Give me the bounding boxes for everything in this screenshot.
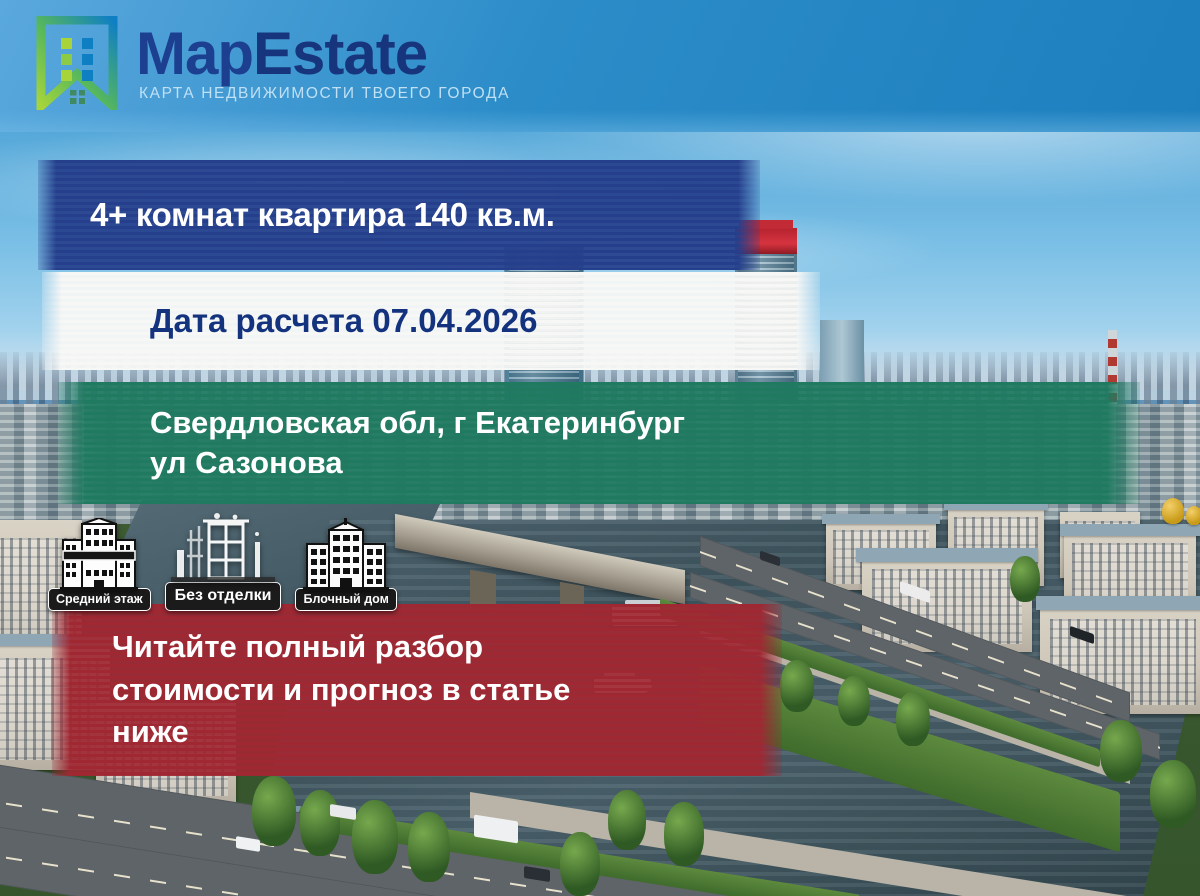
building-roof xyxy=(822,514,940,524)
address-street-line: ул Сазонова xyxy=(58,443,1140,483)
rooms-banner-text: 4+ комнат квартира 140 кв.м. xyxy=(38,196,760,234)
tree xyxy=(664,802,704,866)
feature-no-finishing-label: Без отделки xyxy=(165,582,282,611)
tree xyxy=(838,676,870,726)
cta-banner[interactable]: Читайте полный разбор стоимости и прогно… xyxy=(52,604,782,776)
feature-block-house[interactable]: Блочный дом xyxy=(295,518,396,612)
address-banner-content: Свердловская обл, г Екатеринбург ул Сазо… xyxy=(58,403,1140,484)
feature-badges: Средний этаж xyxy=(48,512,397,611)
date-banner-content: Дата расчета 07.04.2026 xyxy=(42,302,820,340)
church-dome xyxy=(1162,498,1184,524)
logo-lockup[interactable]: MapEstate КАРТА НЕДВИЖИМОСТИ ТВОЕГО ГОРО… xyxy=(34,16,510,110)
block-house-icon xyxy=(303,518,389,592)
address-banner: Свердловская обл, г Екатеринбург ул Сазо… xyxy=(58,382,1140,504)
tree xyxy=(780,660,814,712)
tree xyxy=(352,800,398,874)
brand-name: MapEstate xyxy=(136,24,510,84)
logo-wordmark: MapEstate КАРТА НЕДВИЖИМОСТИ ТВОЕГО ГОРО… xyxy=(136,24,510,103)
church-dome xyxy=(1186,506,1200,525)
building-roof xyxy=(856,548,1038,562)
cta-line-2: стоимости и прогноз в статье xyxy=(52,669,782,712)
tree xyxy=(252,776,296,846)
tree xyxy=(608,790,646,850)
cta-banner-content: Читайте полный разбор стоимости и прогно… xyxy=(52,626,782,754)
feature-mid-floor[interactable]: Средний этаж xyxy=(48,518,151,612)
tree xyxy=(560,832,600,896)
bookmark-building-logo-icon xyxy=(34,16,120,110)
brand-name-estate: Estate xyxy=(253,20,427,87)
rooms-banner: 4+ комнат квартира 140 кв.м. xyxy=(38,160,760,270)
calculation-date-banner: Дата расчета 07.04.2026 xyxy=(42,272,820,370)
cta-line-3: ниже xyxy=(52,711,782,754)
building-roof xyxy=(1060,524,1200,536)
unfinished-construction-icon xyxy=(171,512,275,586)
brand-tagline: КАРТА НЕДВИЖИМОСТИ ТВОЕГО ГОРОДА xyxy=(136,85,510,103)
building-roof xyxy=(1036,596,1200,610)
calculation-date-text: Дата расчета 07.04.2026 xyxy=(42,302,820,340)
tree xyxy=(1150,760,1196,828)
mid-floor-building-icon xyxy=(60,518,138,592)
brand-name-map: Map xyxy=(136,20,253,87)
brand-header: MapEstate КАРТА НЕДВИЖИМОСТИ ТВОЕГО ГОРО… xyxy=(0,0,1200,132)
feature-no-finishing[interactable]: Без отделки xyxy=(165,512,282,611)
tree xyxy=(1100,720,1142,782)
cta-line-1: Читайте полный разбор xyxy=(52,626,782,669)
rooms-banner-content: 4+ комнат квартира 140 кв.м. xyxy=(38,196,760,234)
property-promo-poster: MapEstate КАРТА НЕДВИЖИМОСТИ ТВОЕГО ГОРО… xyxy=(0,0,1200,896)
tree xyxy=(1010,556,1040,602)
tree xyxy=(896,692,930,746)
address-region-line: Свердловская обл, г Екатеринбург xyxy=(58,403,1140,443)
tree xyxy=(408,812,450,882)
tree xyxy=(300,790,340,856)
